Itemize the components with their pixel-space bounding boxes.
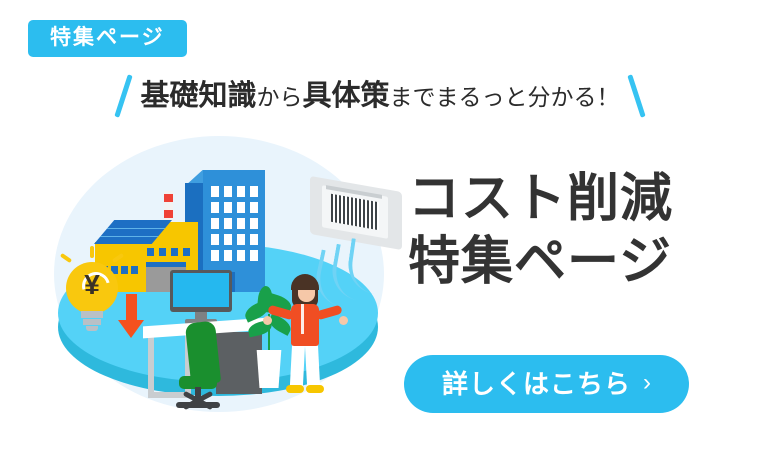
- page-title: コスト削減 特集ページ: [408, 168, 673, 295]
- person-left-shoe: [286, 385, 304, 393]
- subheading-part1: 基礎知識: [140, 80, 256, 112]
- subheading-text: 基礎知識から具体策までまるっと分かる！: [140, 82, 619, 111]
- person-right-hand: [339, 316, 348, 325]
- person-left-leg: [290, 342, 305, 389]
- left-slash-icon: [115, 74, 133, 117]
- bulb-tip: [86, 326, 98, 331]
- person-right-shoe: [306, 385, 324, 393]
- chimney-band-1: [164, 194, 173, 202]
- down-arrow-head: [118, 320, 144, 338]
- title-line-2: 特集ページ: [408, 231, 673, 294]
- subheading-part2: から: [257, 84, 303, 110]
- factory-window: [183, 248, 190, 256]
- cta-label: 詳しくはこちら: [442, 371, 631, 397]
- subheading-row: 基礎知識から具体策までまるっと分かる！: [0, 70, 760, 122]
- illustration: ¥: [48, 136, 400, 436]
- details-cta-button[interactable]: 詳しくはこちら ›: [404, 355, 689, 413]
- chevron-right-icon: ›: [643, 371, 651, 395]
- subheading-part3: 具体策: [303, 80, 390, 112]
- feature-badge: 特集ページ: [28, 20, 187, 57]
- bulb-ray: [90, 246, 94, 258]
- plant-pot: [255, 350, 283, 388]
- bulb-base: [83, 319, 101, 325]
- desk-leg: [148, 332, 154, 398]
- yen-symbol: ¥: [66, 271, 118, 299]
- person-right-leg: [305, 342, 320, 389]
- promo-banner: 特集ページ 基礎知識から具体策までまるっと分かる！: [0, 0, 760, 462]
- subheading-part4: までまるっと分かる！: [390, 84, 620, 110]
- factory-window: [147, 248, 154, 256]
- down-arrow-icon: [126, 294, 137, 322]
- right-slash-icon: [627, 74, 645, 117]
- person-jacket-opening: [301, 304, 304, 334]
- factory-window: [171, 248, 178, 256]
- factory-window: [121, 266, 128, 274]
- factory-door-band: [146, 262, 186, 267]
- desk-cabinet: [216, 332, 262, 394]
- chimney-band-2: [164, 210, 173, 218]
- person-left-hand: [263, 316, 272, 325]
- office-chair-base: [176, 402, 220, 408]
- factory-window: [131, 266, 138, 274]
- title-line-1: コスト削減: [408, 168, 673, 231]
- factory-window: [159, 248, 166, 256]
- bulb-neck: [81, 311, 103, 318]
- person-jacket: [291, 304, 319, 346]
- monitor-screen: [173, 273, 229, 307]
